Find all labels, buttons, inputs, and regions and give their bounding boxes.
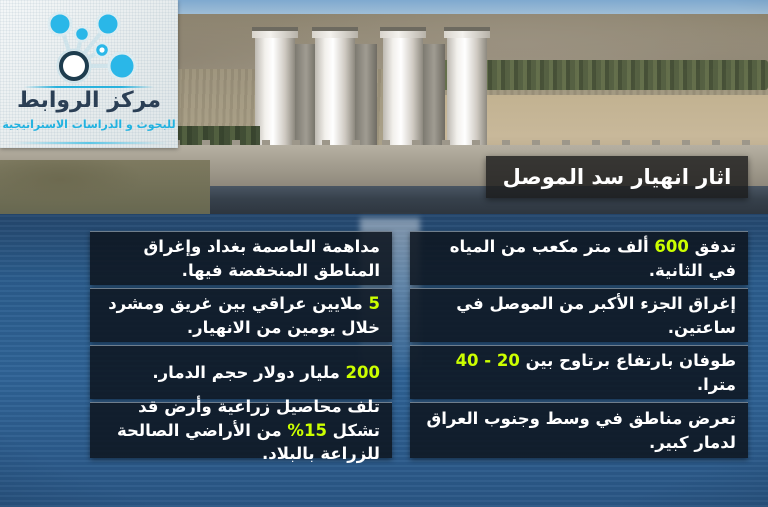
highlight-value: 200 [346,363,380,382]
fact-text: تعرض مناطق في وسط وجنوب العراق لدمار كبي… [410,407,748,455]
fact-phrase: طوفان بارتفاع برتاوح بين [520,351,736,370]
fact-card: 200 مليار دولار حجم الدمار. [90,345,392,399]
fact-text: مداهمة العاصمة بغداد وإغراق المناطق المن… [90,235,392,283]
highlight-value: 15% [287,421,327,440]
infographic-canvas: مركز الروابط للبحوث و الدراسات الاستراتي… [0,0,768,507]
fact-text: إغراق الجزء الأكبر من الموصل في ساعتين. [410,292,748,340]
highlight-value: 600 [654,237,688,256]
fact-text: 5 ملايين عراقي بين غريق ومشرد خلال يومين… [90,292,392,340]
highlight-value: 20 - 40 [456,351,520,370]
fact-card: تعرض مناطق في وسط وجنوب العراق لدمار كبي… [410,402,748,458]
fact-phrase: تعرض مناطق في وسط وجنوب العراق لدمار كبي… [426,409,736,452]
fact-phrase: مداهمة العاصمة بغداد وإغراق المناطق المن… [143,237,380,280]
fact-phrase: تدفق [689,237,736,256]
fact-card: تدفق 600 ألف متر مكعب من المياه في الثان… [410,231,748,285]
highlight-value: 5 [369,294,380,313]
facts-grid: تدفق 600 ألف متر مكعب من المياه في الثان… [0,0,768,507]
fact-text: تلف محاصيل زراعية وأرض قد تشكل 15% من ال… [90,395,392,467]
fact-text: 200 مليار دولار حجم الدمار. [90,361,392,385]
fact-text: تدفق 600 ألف متر مكعب من المياه في الثان… [410,235,748,283]
fact-card: 5 ملايين عراقي بين غريق ومشرد خلال يومين… [90,288,392,342]
fact-text: طوفان بارتفاع برتاوح بين 20 - 40 مترا. [410,349,748,397]
fact-phrase: إغراق الجزء الأكبر من الموصل في ساعتين. [456,294,736,337]
fact-phrase: مليار دولار حجم الدمار. [152,363,345,382]
fact-card: تلف محاصيل زراعية وأرض قد تشكل 15% من ال… [90,402,392,458]
fact-phrase: مترا. [697,375,736,394]
fact-card: مداهمة العاصمة بغداد وإغراق المناطق المن… [90,231,392,285]
fact-card: طوفان بارتفاع برتاوح بين 20 - 40 مترا. [410,345,748,399]
fact-phrase: ملايين عراقي بين غريق ومشرد خلال يومين م… [108,294,380,337]
fact-card: إغراق الجزء الأكبر من الموصل في ساعتين. [410,288,748,342]
